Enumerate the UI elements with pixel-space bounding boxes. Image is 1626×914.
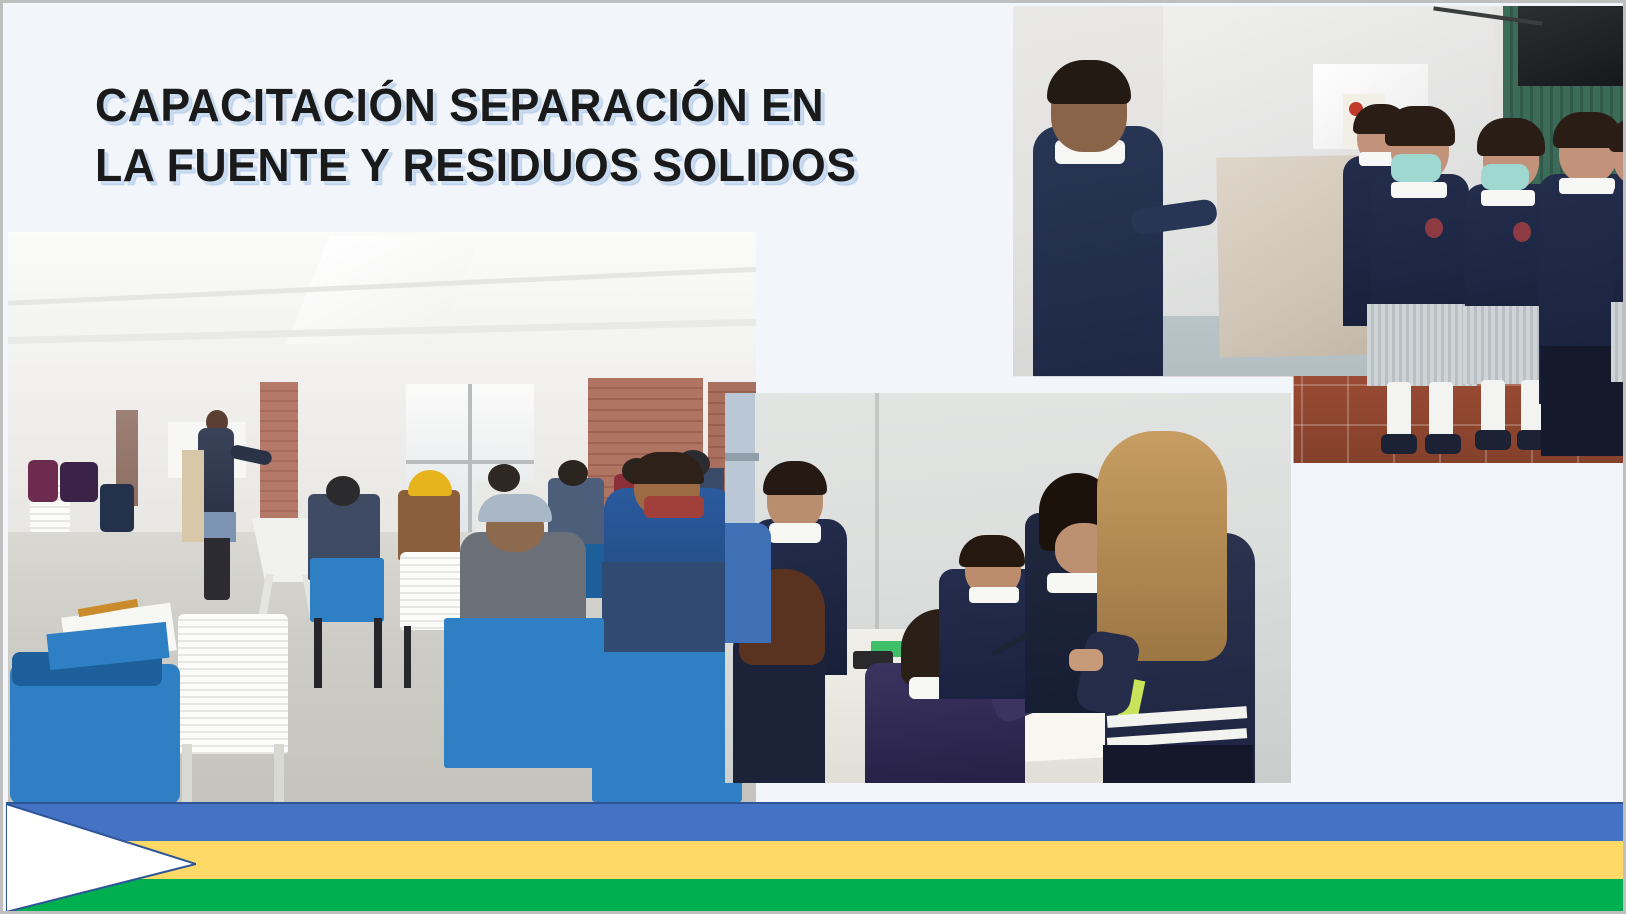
training-session-adults-photo [8,232,756,805]
slide-canvas: CAPACITACIÓN SEPARACIÓN EN LA FUENTE Y R… [0,0,1626,914]
footer-bar-blue [6,802,1626,845]
footer-bar-yellow [6,841,1626,882]
footer-bar-green [6,879,1626,914]
footer-wedge-triangle [6,802,196,914]
title-line-2: LA FUENTE Y RESIDUOS SOLIDOS [95,135,949,195]
photo-center-scene [725,393,1291,783]
wedge-shape-icon [6,802,196,914]
students-working-at-table-photo [725,393,1291,783]
photo-left-scene [8,232,756,805]
title-line-1: CAPACITACIÓN SEPARACIÓN EN [95,75,949,135]
page-title: CAPACITACIÓN SEPARACIÓN EN LA FUENTE Y R… [95,75,975,195]
